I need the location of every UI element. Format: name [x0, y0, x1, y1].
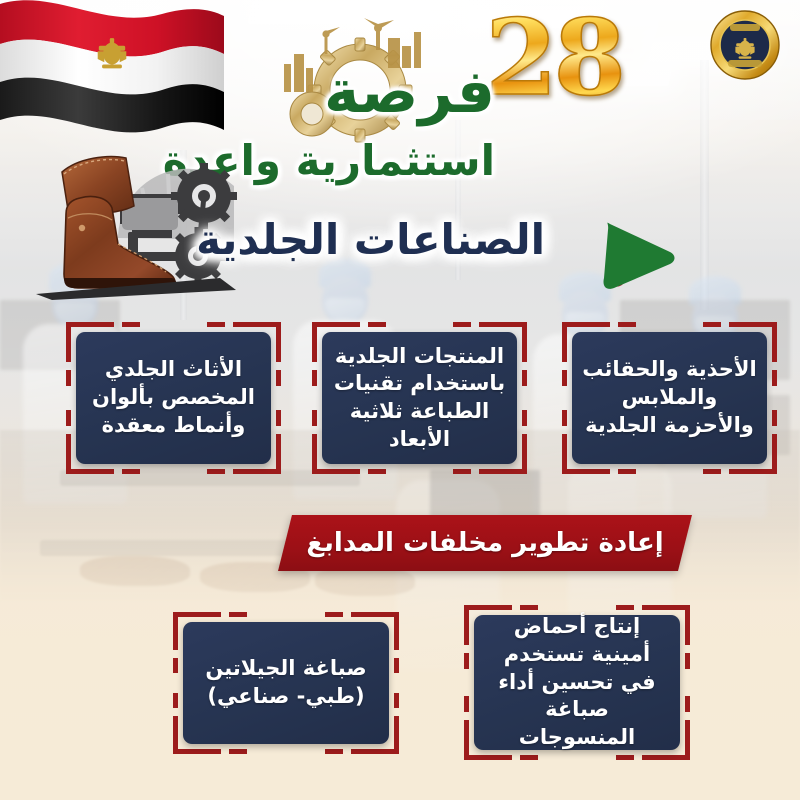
card-plate: المنتجات الجلدية باستخدام تقنيات الطباعة…	[322, 332, 517, 464]
opportunity-card-gelatin-dyeing[interactable]: صباغة الجيلاتين (طبي- صناعي)	[173, 612, 399, 754]
opportunity-card-leather-furniture[interactable]: الأثاث الجلدي المخصص بألوان وأنماط معقدة	[66, 322, 281, 474]
card-label: الأثاث الجلدي المخصص بألوان وأنماط معقدة	[76, 356, 271, 439]
ministry-of-industry-seal	[708, 8, 782, 82]
card-label: صباغة الجيلاتين (طبي- صناعي)	[183, 655, 389, 710]
opportunity-card-3d-printed-leather[interactable]: المنتجات الجلدية باستخدام تقنيات الطباعة…	[312, 322, 527, 474]
card-plate: الأثاث الجلدي المخصص بألوان وأنماط معقدة	[76, 332, 271, 464]
card-plate: صباغة الجيلاتين (طبي- صناعي)	[183, 622, 389, 744]
opportunity-card-amino-acids[interactable]: إنتاج أحماض أمينية تستخدم في تحسين أداء …	[464, 605, 690, 760]
opportunity-card-shoes-bags-clothes-belts[interactable]: الأحذية والحقائب والملابس والأحزمة الجلد…	[562, 322, 777, 474]
page-title: الصناعات الجلدية	[196, 218, 545, 262]
card-label: الأحذية والحقائب والملابس والأحزمة الجلد…	[572, 356, 767, 439]
card-label: المنتجات الجلدية باستخدام تقنيات الطباعة…	[322, 343, 517, 454]
card-label: إنتاج أحماض أمينية تستخدم في تحسين أداء …	[474, 613, 680, 752]
card-plate: الأحذية والحقائب والملابس والأحزمة الجلد…	[572, 332, 767, 464]
infographic-poster: 28 فرصة استثمارية واعدة	[0, 0, 800, 800]
card-plate: إنتاج أحماض أمينية تستخدم في تحسين أداء …	[474, 615, 680, 750]
headline-number: 28	[485, 6, 622, 110]
section-banner-label: إعادة تطوير مخلفات المدابغ	[285, 515, 685, 571]
leather-boot-icon	[22, 128, 254, 300]
play-triangle-icon	[600, 212, 678, 294]
egypt-flag	[0, 0, 224, 146]
headline-word: فرصة	[324, 62, 495, 122]
